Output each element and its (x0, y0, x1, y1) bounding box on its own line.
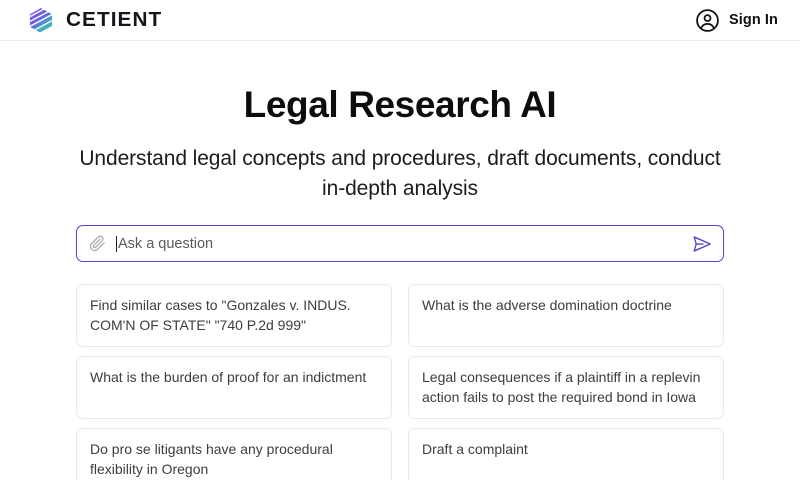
user-circle-icon (695, 8, 720, 33)
suggestion-card[interactable]: What is the burden of proof for an indic… (76, 356, 392, 419)
suggestion-card[interactable]: Legal consequences if a plaintiff in a r… (408, 356, 724, 419)
suggestion-grid: Find similar cases to "Gonzales v. INDUS… (0, 284, 800, 480)
suggestion-card[interactable]: What is the adverse domination doctrine (408, 284, 724, 347)
page-title: Legal Research AI (0, 85, 800, 126)
main-content: Legal Research AI Understand legal conce… (0, 85, 800, 480)
cetient-hexagon-logo-icon (28, 7, 54, 34)
app-header: CETIENT Sign In (0, 0, 800, 41)
brand-logo-group[interactable]: CETIENT (28, 7, 159, 34)
sign-in-button[interactable]: Sign In (695, 8, 778, 33)
page-subtitle: Understand legal concepts and procedures… (0, 144, 800, 204)
suggestion-card[interactable]: Find similar cases to "Gonzales v. INDUS… (76, 284, 392, 347)
brand-name: CETIENT (66, 10, 162, 30)
suggestion-card[interactable]: Do pro se litigants have any procedural … (76, 428, 392, 480)
sign-in-label: Sign In (729, 12, 778, 28)
search-placeholder: Ask a question (118, 237, 213, 252)
text-caret (116, 236, 117, 252)
paperclip-icon[interactable] (88, 234, 107, 253)
suggestion-card[interactable]: Draft a complaint (408, 428, 724, 480)
search-input[interactable]: Ask a question (116, 226, 682, 261)
send-arrow-icon[interactable] (691, 233, 713, 255)
question-search-bar[interactable]: Ask a question (76, 225, 724, 262)
search-section: Ask a question (0, 225, 800, 262)
